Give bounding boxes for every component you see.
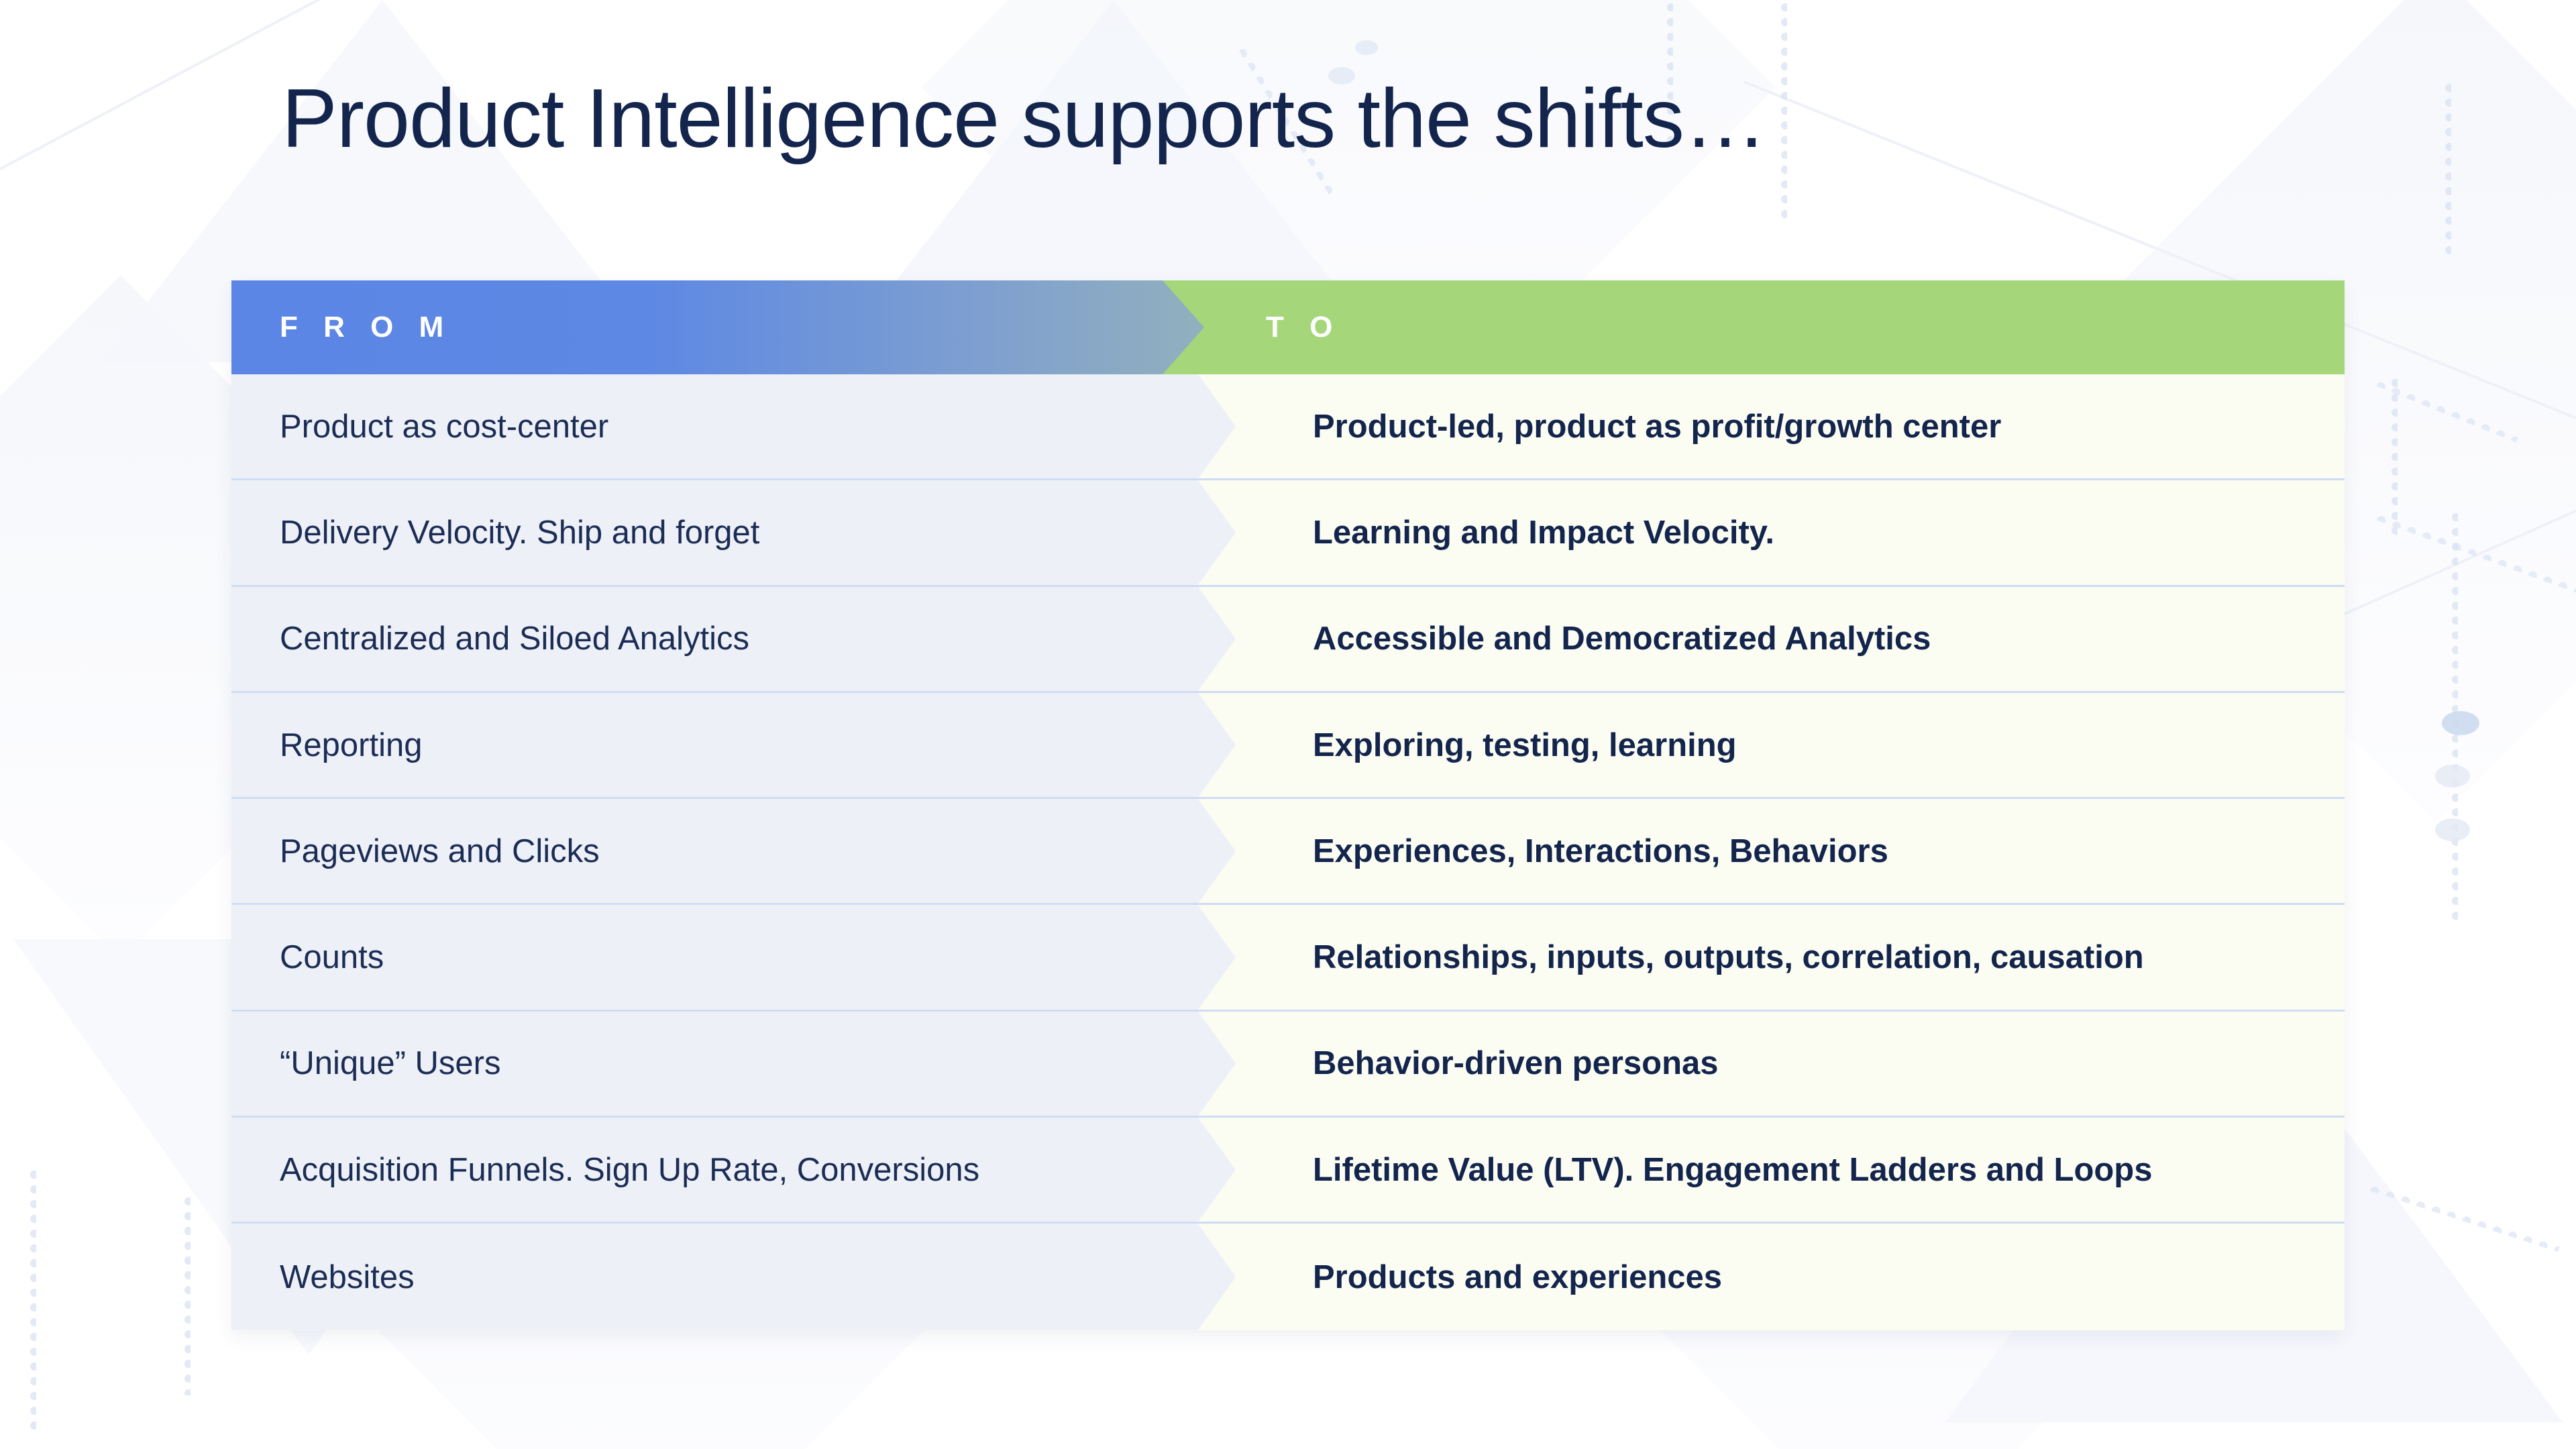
bg-dotted-line [2449,510,2458,926]
bg-dotted-line [1778,0,1787,221]
cell-from-text: Product as cost-center [231,408,608,445]
cell-to-text: Relationships, inputs, outputs, correlat… [1236,938,2144,976]
table-row: Reporting Exploring, testing, learning [231,693,2345,799]
cell-to: Experiences, Interactions, Behaviors [1236,799,2345,903]
cell-to: Accessible and Democratized Analytics [1236,587,2345,691]
table-row: “Unique” Users Behavior-driven personas [231,1012,2345,1118]
bg-dotted-line [27,1167,36,1436]
cell-from: “Unique” Users [231,1012,1236,1116]
cell-to-text: Product-led, product as profit/growth ce… [1236,408,2001,445]
cell-from: Centralized and Siloed Analytics [231,587,1236,691]
cell-to: Products and experiences [1236,1224,2345,1330]
bg-dotted-line [2373,510,2576,594]
cell-from-text: Centralized and Siloed Analytics [231,620,749,657]
cell-to-text: Accessible and Democratized Analytics [1236,620,1931,657]
bg-dotted-line [2367,1181,2561,1252]
cell-from-text: Pageviews and Clicks [231,833,600,870]
cell-to-text: Behavior-driven personas [1236,1044,1719,1082]
cell-from-text: Counts [231,938,384,976]
cell-to: Relationships, inputs, outputs, correlat… [1236,905,2345,1009]
cell-to: Exploring, testing, learning [1236,693,2345,797]
cell-to-text: Learning and Impact Velocity. [1236,514,1774,551]
table-row: Acquisition Funnels. Sign Up Rate, Conve… [231,1118,2345,1224]
cell-from: Counts [231,905,1236,1009]
cell-from: Product as cost-center [231,374,1236,478]
cell-to: Lifetime Value (LTV). Engagement Ladders… [1236,1118,2345,1222]
cell-to: Behavior-driven personas [1236,1012,2345,1116]
bg-dot [2435,818,2470,841]
cell-from: Websites [231,1224,1236,1330]
page-title: Product Intelligence supports the shifts… [282,75,1766,162]
table-row: Counts Relationships, inputs, outputs, c… [231,905,2345,1011]
cell-from-text: Acquisition Funnels. Sign Up Rate, Conve… [231,1151,979,1189]
table-row: Centralized and Siloed Analytics Accessi… [231,587,2345,693]
column-header-from: F R O M [280,280,452,374]
cell-to: Product-led, product as profit/growth ce… [1236,374,2345,478]
bg-dot [2442,711,2479,735]
cell-from: Delivery Velocity. Ship and forget [231,480,1236,584]
cell-to-text: Experiences, Interactions, Behaviors [1236,833,1888,870]
table-body: Product as cost-center Product-led, prod… [231,374,2345,1330]
table-row: Product as cost-center Product-led, prod… [231,374,2345,480]
bg-dot [1355,40,1378,55]
cell-from-text: Delivery Velocity. Ship and forget [231,514,759,551]
cell-from: Pageviews and Clicks [231,799,1236,903]
cell-from-text: Reporting [231,727,422,764]
from-to-table: F R O M T O Product as cost-center Produ… [231,280,2345,1330]
cell-to: Learning and Impact Velocity. [1236,480,2345,584]
cell-from: Acquisition Funnels. Sign Up Rate, Conve… [231,1118,1236,1222]
table-row: Delivery Velocity. Ship and forget Learn… [231,480,2345,586]
bg-dotted-line [181,1194,191,1395]
cell-to-text: Exploring, testing, learning [1236,727,1737,764]
cell-from: Reporting [231,693,1236,797]
cell-from-text: “Unique” Users [231,1044,500,1082]
bg-dotted-line [2442,80,2451,255]
bg-dotted-line [2388,376,2398,537]
table-row: Websites Products and experiences [231,1224,2345,1330]
column-header-to: T O [1266,280,1341,374]
cell-from-text: Websites [231,1258,415,1296]
cell-to-text: Lifetime Value (LTV). Engagement Ladders… [1236,1151,2153,1189]
bg-dotted-line [2373,376,2519,443]
cell-to-text: Products and experiences [1236,1258,1722,1296]
bg-dot [2435,765,2470,788]
table-row: Pageviews and Clicks Experiences, Intera… [231,799,2345,905]
slide: Product Intelligence supports the shifts… [0,0,2576,1449]
table-header-row: F R O M T O [231,280,2345,374]
